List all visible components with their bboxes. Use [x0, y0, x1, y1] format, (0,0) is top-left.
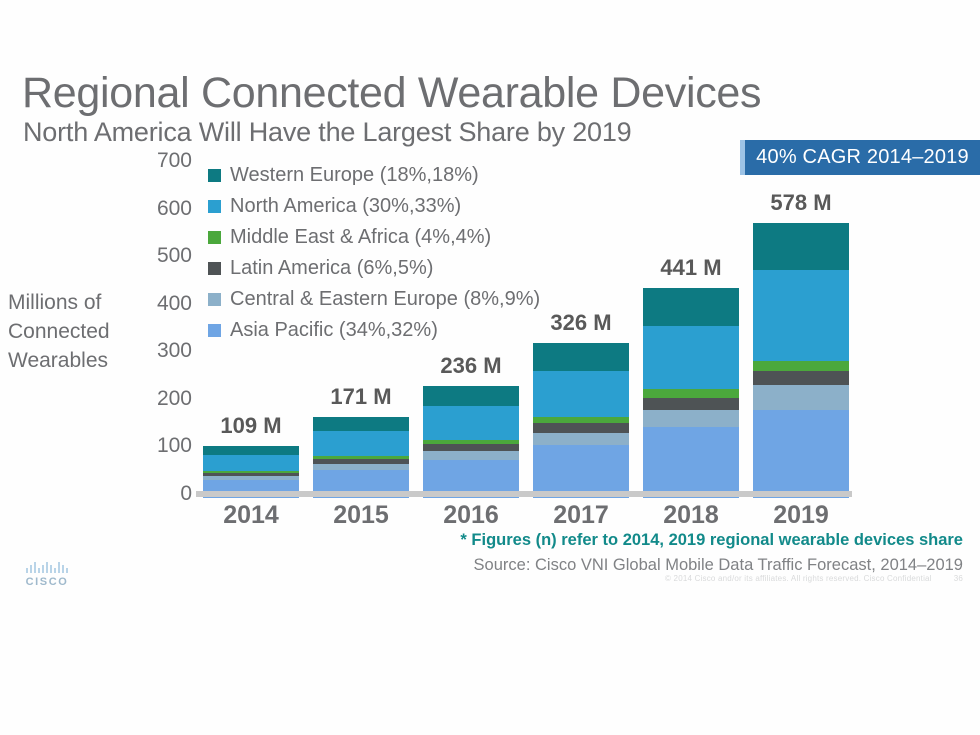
- bar-total-label: 578 M: [736, 190, 866, 216]
- stacked-bar[interactable]: [533, 343, 629, 498]
- page-title: Regional Connected Wearable Devices: [22, 68, 761, 118]
- bar-segment[interactable]: [753, 361, 849, 372]
- stacked-bar[interactable]: [313, 417, 409, 498]
- y-axis-tick: 0: [132, 482, 192, 506]
- bar-total-label: 441 M: [626, 255, 756, 281]
- cisco-logo: CISCO: [14, 562, 80, 588]
- y-axis-title: Millions of Connected Wearables: [8, 288, 138, 375]
- source-text: Source: Cisco VNI Global Mobile Data Tra…: [0, 556, 963, 575]
- stacked-bar[interactable]: [753, 223, 849, 498]
- legend-item-label: Western Europe (18%,18%): [230, 164, 479, 187]
- bar-total-label: 109 M: [186, 413, 316, 439]
- bar-segment[interactable]: [643, 288, 739, 326]
- page-subtitle: North America Will Have the Largest Shar…: [23, 116, 632, 148]
- legend-item[interactable]: Middle East & Africa (4%,4%): [208, 222, 568, 253]
- legend-item-label: Latin America (6%,5%): [230, 257, 433, 280]
- legend-swatch-icon: [208, 231, 221, 244]
- bar-segment[interactable]: [423, 451, 519, 460]
- legend-item[interactable]: Central & Eastern Europe (8%,9%): [208, 284, 568, 315]
- bar-segment[interactable]: [423, 444, 519, 451]
- bar-segment[interactable]: [313, 417, 409, 432]
- legend-item[interactable]: Latin America (6%,5%): [208, 253, 568, 284]
- cisco-wordmark: CISCO: [14, 576, 80, 588]
- chart-legend: Western Europe (18%,18%)North America (3…: [208, 160, 568, 346]
- y-axis-tick: 100: [132, 434, 192, 458]
- bar-segment[interactable]: [643, 410, 739, 427]
- copyright-text: © 2014 Cisco and/or its affiliates. All …: [0, 574, 963, 583]
- copyright-line: © 2014 Cisco and/or its affiliates. All …: [665, 574, 932, 583]
- y-axis-tick: 400: [132, 292, 192, 316]
- bar-segment[interactable]: [643, 326, 739, 389]
- y-axis-tick: 500: [132, 244, 192, 268]
- bar-segment[interactable]: [203, 455, 299, 471]
- bar-total-label: 236 M: [406, 353, 536, 379]
- bar-segment[interactable]: [203, 446, 299, 455]
- legend-swatch-icon: [208, 262, 221, 275]
- legend-swatch-icon: [208, 324, 221, 337]
- bar-segment[interactable]: [533, 343, 629, 371]
- stacked-bar[interactable]: [423, 386, 519, 498]
- y-axis-tick: 300: [132, 339, 192, 363]
- bar-segment[interactable]: [313, 464, 409, 471]
- bar-segment[interactable]: [643, 427, 739, 498]
- bar-segment[interactable]: [753, 371, 849, 385]
- stacked-bar[interactable]: [643, 288, 739, 498]
- bar-total-label: 171 M: [296, 384, 426, 410]
- legend-item-label: Central & Eastern Europe (8%,9%): [230, 288, 540, 311]
- legend-item[interactable]: North America (30%,33%): [208, 191, 568, 222]
- slide-canvas: Regional Connected Wearable Devices Nort…: [0, 0, 980, 735]
- legend-item-label: North America (30%,33%): [230, 195, 461, 218]
- x-axis-baseline: [196, 491, 852, 497]
- bar-segment[interactable]: [533, 423, 629, 433]
- bar-segment[interactable]: [753, 410, 849, 498]
- legend-item-label: Asia Pacific (34%,32%): [230, 319, 438, 342]
- bar-segment[interactable]: [643, 398, 739, 410]
- bar-segment[interactable]: [533, 371, 629, 418]
- y-axis-ticks: 7006005004003002001000: [130, 160, 192, 493]
- x-axis-label: 2019: [736, 501, 866, 530]
- y-axis-tick: 700: [132, 149, 192, 173]
- legend-swatch-icon: [208, 293, 221, 306]
- footnote-text: * Figures (n) refer to 2014, 2019 region…: [0, 531, 963, 550]
- bar-segment[interactable]: [753, 385, 849, 410]
- legend-swatch-icon: [208, 169, 221, 182]
- y-axis-tick: 600: [132, 197, 192, 221]
- bar-segment[interactable]: [423, 406, 519, 440]
- cisco-bridge-icon: [14, 562, 80, 573]
- legend-swatch-icon: [208, 200, 221, 213]
- legend-item[interactable]: Asia Pacific (34%,32%): [208, 315, 568, 346]
- bar-segment[interactable]: [753, 223, 849, 270]
- bar-segment[interactable]: [423, 386, 519, 406]
- bar-segment[interactable]: [313, 431, 409, 455]
- y-axis-tick: 200: [132, 387, 192, 411]
- bar-segment[interactable]: [753, 270, 849, 361]
- page-number: 36: [954, 574, 963, 583]
- bar-segment[interactable]: [643, 389, 739, 398]
- legend-item-label: Middle East & Africa (4%,4%): [230, 226, 491, 249]
- legend-item[interactable]: Western Europe (18%,18%): [208, 160, 568, 191]
- bar-segment[interactable]: [533, 433, 629, 445]
